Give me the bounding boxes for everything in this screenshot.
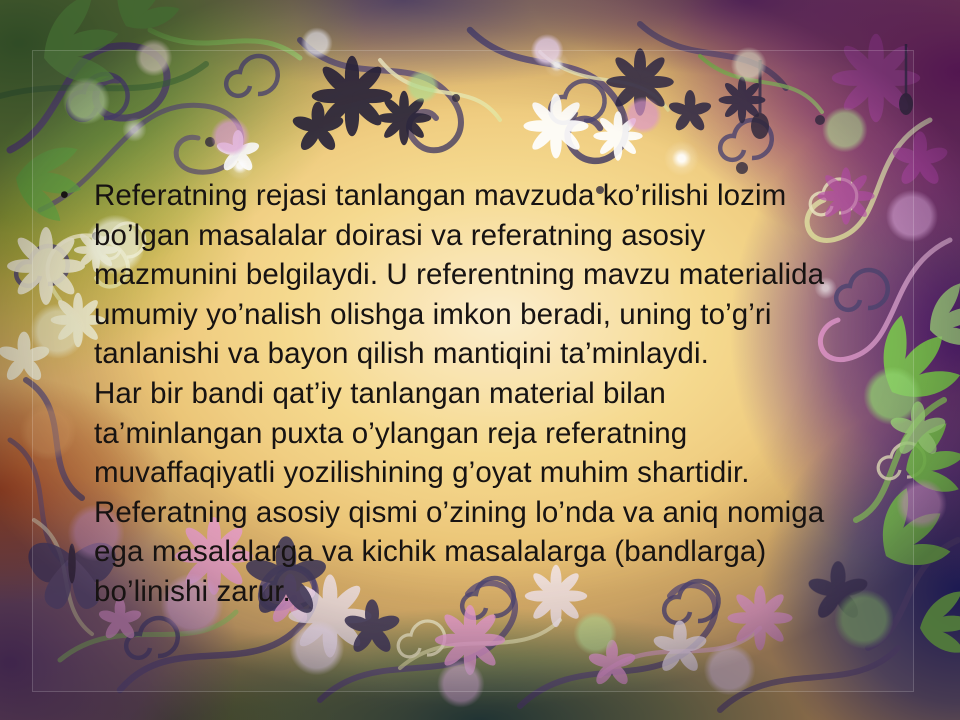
body-line-row: bo’lgan masalalar doirasi va referatning… bbox=[52, 216, 912, 256]
bullet-list-item: • Referatning rejasi tanlangan mavzuda k… bbox=[52, 176, 912, 216]
body-line-row: ega masalalarga va kichik masalalarga (b… bbox=[52, 532, 912, 572]
body-line: tanlanishi va bayon qilish mantiqini ta’… bbox=[94, 337, 709, 370]
slide-body-text[interactable]: • Referatning rejasi tanlangan mavzuda k… bbox=[52, 176, 912, 612]
body-line-row: Referatning asosiy qismi o’zining lo’nda… bbox=[52, 493, 912, 533]
body-line-row: muvaffaqiyatli yozilishining g’oyat muhi… bbox=[52, 453, 912, 493]
body-line-row: ta’minlangan puxta o’ylangan reja refera… bbox=[52, 414, 912, 454]
body-line: Referatning asosiy qismi o’zining lo’nda… bbox=[94, 496, 824, 529]
bullet-point-glyph: • bbox=[60, 176, 69, 216]
body-line: Referatning rejasi tanlangan mavzuda ko’… bbox=[94, 179, 786, 212]
body-line-row: bo’linishi zarur. bbox=[52, 572, 912, 612]
body-line: bo’lgan masalalar doirasi va referatning… bbox=[94, 219, 705, 252]
body-line-row: umumiy yo’nalish olishga imkon beradi, u… bbox=[52, 295, 912, 335]
body-line-row: tanlanishi va bayon qilish mantiqini ta’… bbox=[52, 334, 912, 374]
body-line: ega masalalarga va kichik masalalarga (b… bbox=[94, 535, 766, 568]
body-line: mazmunini belgilaydi. U referentning mav… bbox=[94, 258, 824, 291]
body-line: muvaffaqiyatli yozilishining g’oyat muhi… bbox=[94, 456, 750, 489]
slide-canvas: • Referatning rejasi tanlangan mavzuda k… bbox=[0, 0, 960, 720]
body-line: ta’minlangan puxta o’ylangan reja refera… bbox=[94, 417, 687, 450]
body-line-row: mazmunini belgilaydi. U referentning mav… bbox=[52, 255, 912, 295]
body-line: Har bir bandi qat’iy tanlangan material … bbox=[94, 377, 666, 410]
body-line: umumiy yo’nalish olishga imkon beradi, u… bbox=[94, 298, 771, 331]
body-line: bo’linishi zarur. bbox=[94, 575, 291, 608]
body-line-row: Har bir bandi qat’iy tanlangan material … bbox=[52, 374, 912, 414]
